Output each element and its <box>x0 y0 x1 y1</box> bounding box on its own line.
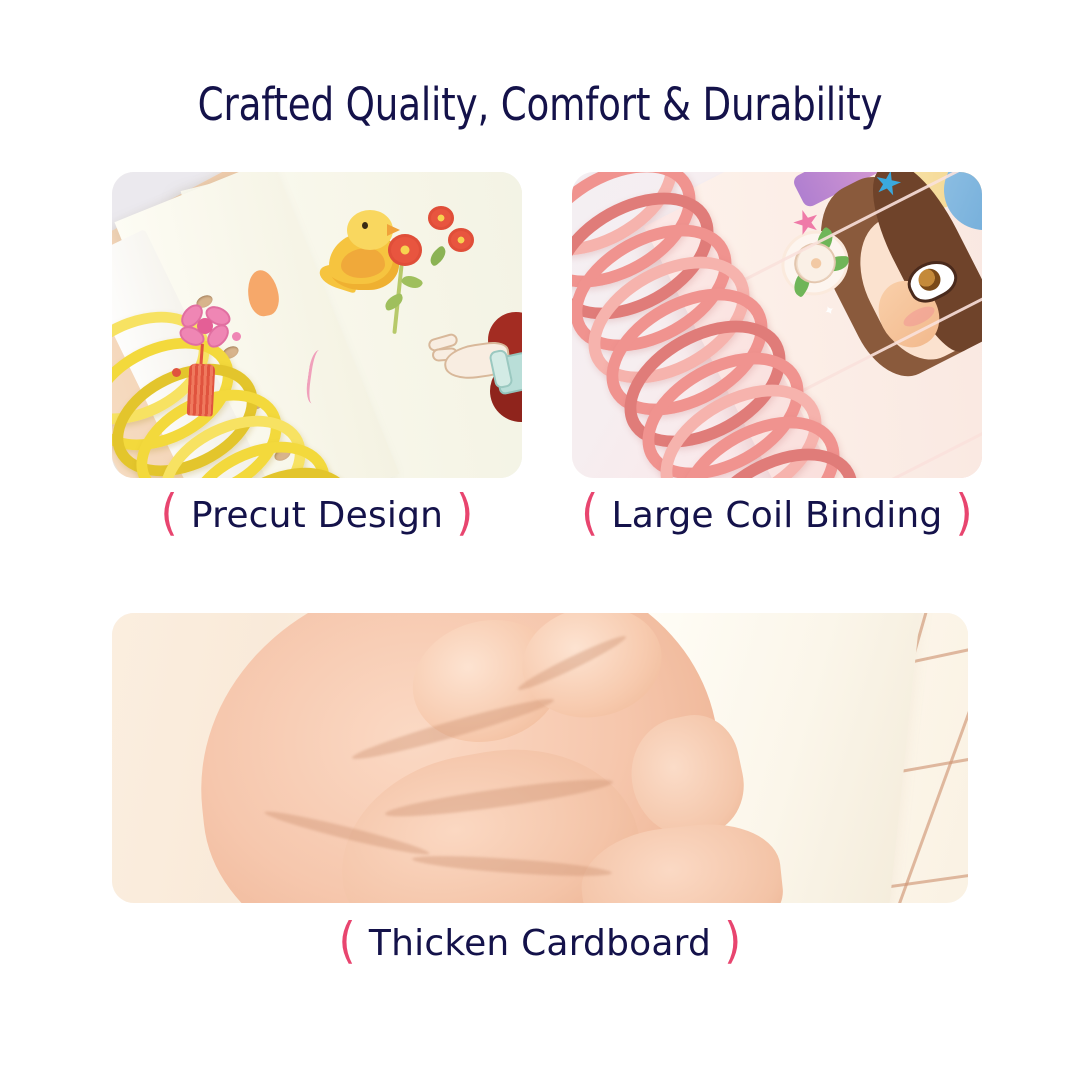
red-flower <box>428 206 454 230</box>
red-flower <box>448 228 474 252</box>
caption-coil: ( Large Coil Binding ) <box>572 492 982 536</box>
tassel-knot-sticker <box>179 307 235 349</box>
tassel-skirt <box>187 363 216 416</box>
caption-coil-label: Large Coil Binding <box>612 495 943 536</box>
bracket-close-icon: ) <box>955 489 972 538</box>
feature-image-cardboard <box>112 613 968 903</box>
bracket-close-icon: ) <box>724 917 741 966</box>
bracket-open-icon: ( <box>581 489 598 538</box>
bracket-open-icon: ( <box>339 917 356 966</box>
tassel-bead <box>172 368 181 377</box>
feature-image-coil: ✦ <box>572 172 982 478</box>
page-title: Crafted Quality, Comfort & Durability <box>43 78 1037 131</box>
bracket-close-icon: ) <box>456 489 473 538</box>
caption-cardboard-label: Thicken Cardboard <box>369 923 711 964</box>
caption-precut-label: Precut Design <box>191 495 443 536</box>
hand-illustration <box>430 320 522 398</box>
tassel-bead <box>232 332 241 341</box>
feature-image-precut <box>112 172 522 478</box>
bracket-open-icon: ( <box>160 489 177 538</box>
caption-cardboard: ( Thicken Cardboard ) <box>112 920 968 964</box>
infographic-page: Crafted Quality, Comfort & Durability <box>0 0 1080 1080</box>
red-flower <box>388 234 422 266</box>
caption-precut: ( Precut Design ) <box>112 492 522 536</box>
